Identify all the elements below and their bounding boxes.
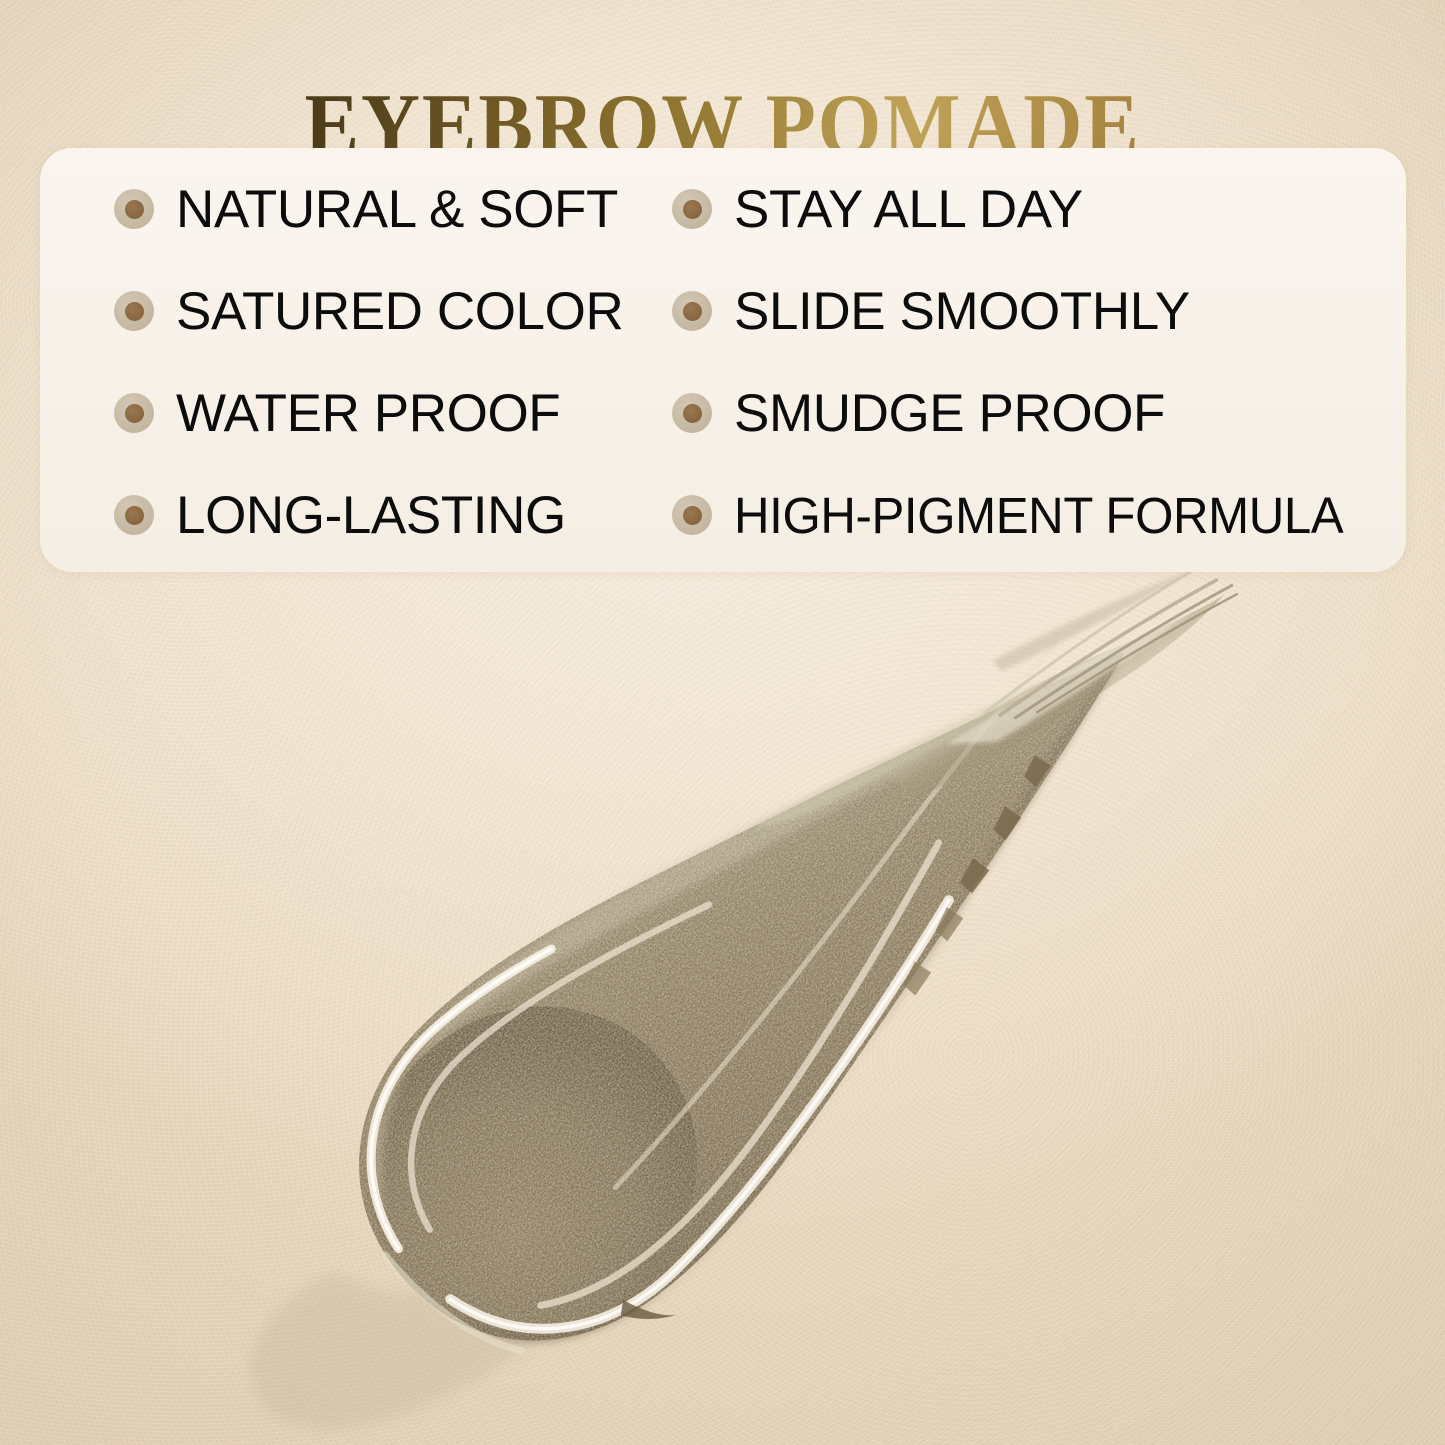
feature-label: SATURED COLOR <box>176 285 623 338</box>
feature-label: LONG-LASTING <box>176 489 566 542</box>
feature-label: WATER PROOF <box>176 387 560 440</box>
bullet-dot-icon <box>114 495 154 535</box>
features-card: NATURAL & SOFT STAY ALL DAY SATURED COLO… <box>40 148 1406 572</box>
bullet-dot-icon <box>672 495 712 535</box>
feature-item-natural-and-soft: NATURAL & SOFT <box>40 183 636 236</box>
bullet-dot-icon <box>114 393 154 433</box>
swatch-body-group <box>285 572 1353 1434</box>
feature-label: SLIDE SMOOTHLY <box>734 285 1190 338</box>
feature-label: SMUDGE PROOF <box>734 387 1165 440</box>
bullet-dot-icon <box>672 189 712 229</box>
feature-label: STAY ALL DAY <box>734 183 1083 236</box>
product-swatch-photo <box>0 572 1445 1445</box>
bullet-dot-icon <box>672 291 712 331</box>
feature-label: NATURAL & SOFT <box>176 183 618 236</box>
feature-label: HIGH-PIGMENT FORMULA <box>734 490 1343 541</box>
feature-item-high-pigment-formula: HIGH-PIGMENT FORMULA <box>636 490 1406 541</box>
product-swatch-illustration <box>0 572 1445 1445</box>
bullet-dot-icon <box>114 291 154 331</box>
features-grid: NATURAL & SOFT STAY ALL DAY SATURED COLO… <box>40 148 1406 572</box>
feature-item-slide-smoothly: SLIDE SMOOTHLY <box>636 285 1406 338</box>
feature-item-stay-all-day: STAY ALL DAY <box>636 183 1406 236</box>
product-marketing-image: EYEBROW POMADE NATURAL & SOFT STAY ALL D… <box>0 0 1445 1445</box>
feature-item-satured-color: SATURED COLOR <box>40 285 636 338</box>
feature-item-long-lasting: LONG-LASTING <box>40 489 636 542</box>
feature-item-water-proof: WATER PROOF <box>40 387 636 440</box>
feature-item-smudge-proof: SMUDGE PROOF <box>636 387 1406 440</box>
bullet-dot-icon <box>114 189 154 229</box>
bullet-dot-icon <box>672 393 712 433</box>
